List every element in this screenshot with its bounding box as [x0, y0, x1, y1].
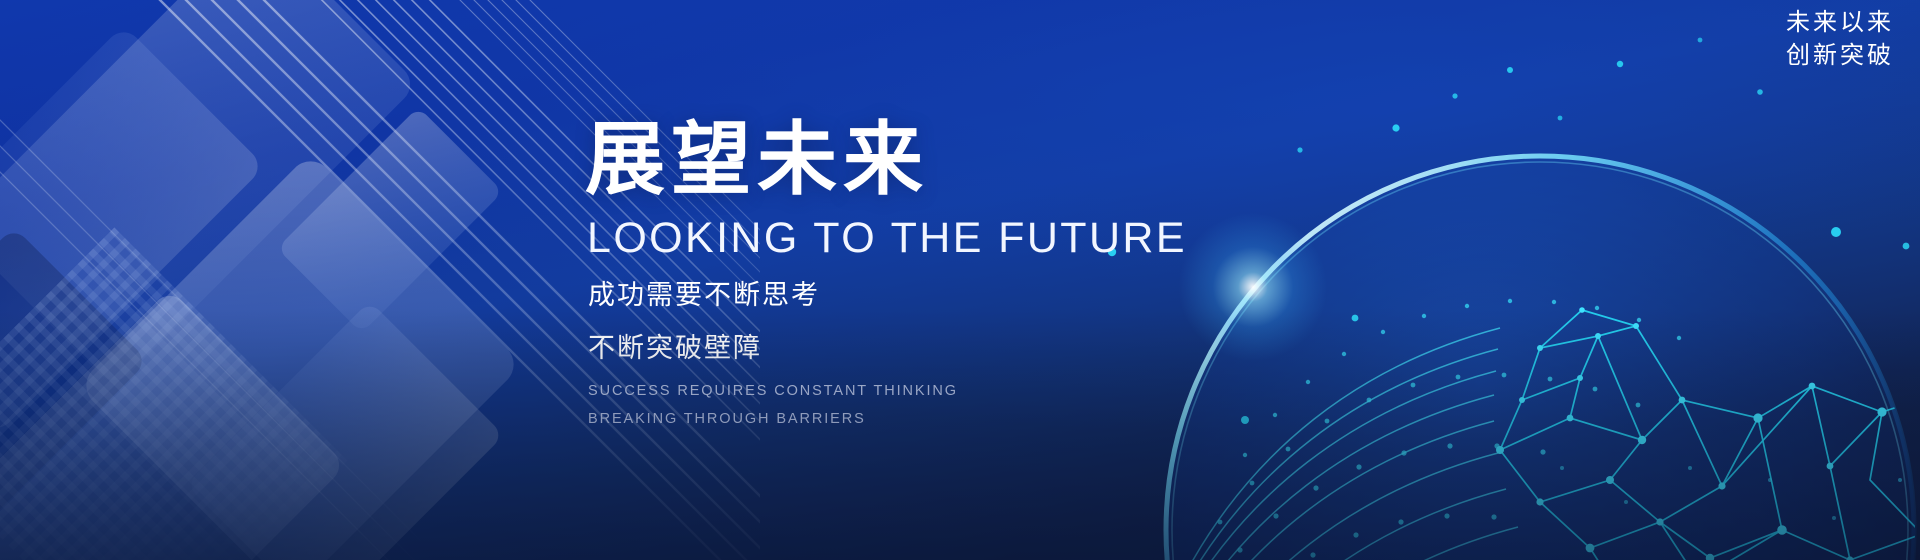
- bottom-vignette: [0, 0, 1920, 560]
- hero-banner: 展望未来 LOOKING TO THE FUTURE 成功需要不断思考 不断突破…: [0, 0, 1920, 560]
